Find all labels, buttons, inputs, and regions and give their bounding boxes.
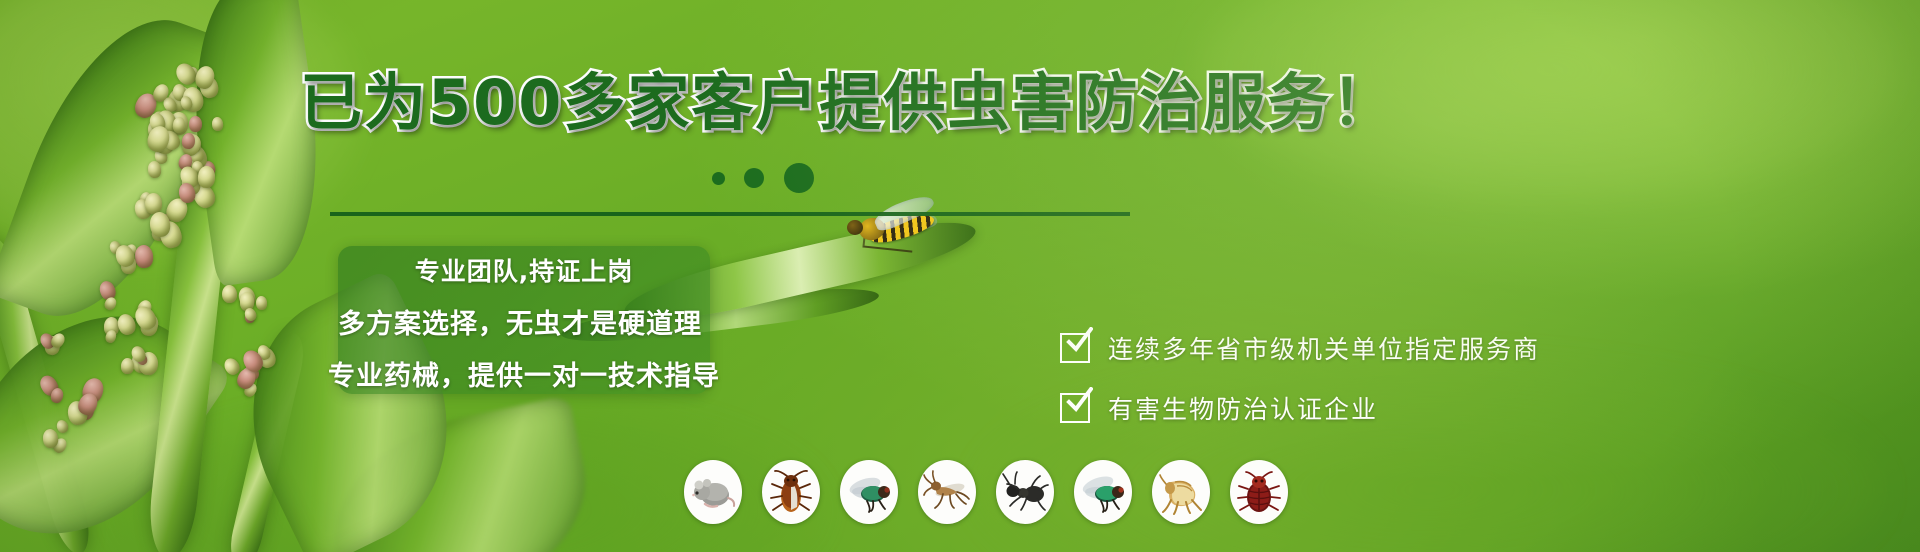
pest-type-strip — [684, 460, 1288, 524]
bedbug-icon — [1235, 468, 1283, 516]
seed-bud — [134, 245, 154, 269]
seed-bud — [145, 193, 162, 214]
selling-point-1: 专业团队,持证上岗 — [338, 252, 710, 288]
pest-chip-housefly[interactable] — [840, 460, 898, 524]
dot-medium-icon — [744, 168, 764, 188]
credentials-list: 连续多年省市级机关单位指定服务商 有害生物防治认证企业 — [1060, 330, 1760, 450]
page-title: 已为500多家客户提供虫害防治服务！ — [0, 72, 1920, 134]
pest-chip-mosquito[interactable] — [918, 460, 976, 524]
selling-point-3: 专业药械，提供一对一技术指导 — [328, 354, 710, 393]
hoverfly-icon — [845, 196, 965, 256]
pest-chip-greenfly[interactable] — [1074, 460, 1132, 524]
horizontal-divider — [330, 212, 1130, 216]
checkbox-checked-icon — [1060, 393, 1090, 423]
pest-chip-bedbug[interactable] — [1230, 460, 1288, 524]
pest-chip-ant[interactable] — [996, 460, 1054, 524]
cockroach-icon — [767, 468, 815, 516]
dot-small-icon — [712, 172, 725, 185]
credential-label: 连续多年省市级机关单位指定服务商 — [1108, 330, 1540, 366]
selling-point-2: 多方案选择，无虫才是硬道理 — [330, 302, 710, 341]
list-item: 有害生物防治认证企业 — [1060, 390, 1760, 426]
list-item: 连续多年省市级机关单位指定服务商 — [1060, 330, 1760, 366]
housefly-icon — [845, 468, 893, 516]
rodent-icon — [689, 468, 737, 516]
seed-bud — [221, 284, 237, 303]
checkbox-checked-icon — [1060, 333, 1090, 363]
credential-label: 有害生物防治认证企业 — [1108, 390, 1378, 426]
check-mark-icon — [1065, 387, 1093, 415]
promo-banner: 已为500多家客户提供虫害防治服务！ 专业团队,持证上岗 多方案选择，无虫才是硬… — [0, 0, 1920, 552]
selling-points-card: 专业团队,持证上岗 多方案选择，无虫才是硬道理 专业药械，提供一对一技术指导 — [338, 246, 710, 394]
flea-icon — [1157, 468, 1205, 516]
ant-icon — [1001, 468, 1049, 516]
mosquito-icon — [923, 468, 971, 516]
fly-head — [847, 220, 863, 235]
headline-text: 已为500多家客户提供虫害防治服务！ — [300, 66, 1395, 139]
seed-bud — [256, 296, 268, 310]
dot-large-icon — [784, 163, 814, 193]
greenfly-icon — [1079, 468, 1127, 516]
decorative-dots — [712, 163, 1912, 193]
pest-chip-cockroach[interactable] — [762, 460, 820, 524]
check-mark-icon — [1065, 327, 1093, 355]
pest-chip-flea[interactable] — [1152, 460, 1210, 524]
pest-chip-rodent[interactable] — [684, 460, 742, 524]
